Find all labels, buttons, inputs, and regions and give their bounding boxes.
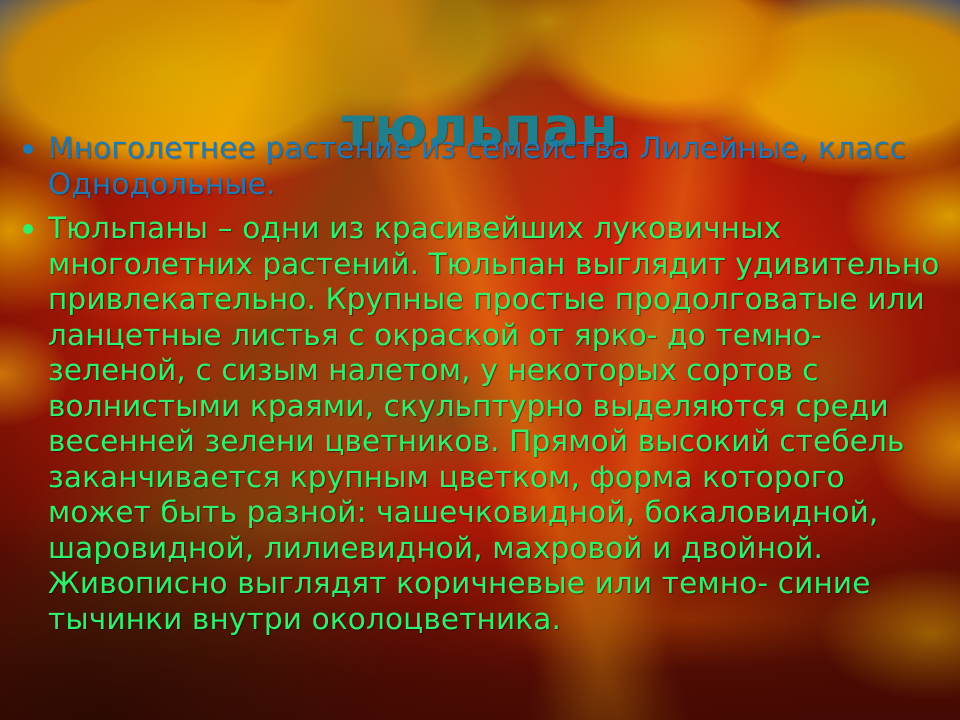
- presentation-slide: тюльпан Многолетнее растение из семейств…: [0, 0, 960, 720]
- bullet-text-1: Многолетнее растение из семейства Лилейн…: [48, 131, 906, 201]
- disc-bullet-icon: [23, 224, 33, 234]
- disc-bullet-icon: [23, 144, 33, 154]
- bullet-text-2: Тюльпаны – одни из красивейших луковичны…: [48, 211, 939, 636]
- slide-body-list: Многолетнее растение из семейства Лилейн…: [14, 131, 950, 637]
- bullet-item-1: Многолетнее растение из семейства Лилейн…: [14, 131, 950, 202]
- bullet-item-2: Тюльпаны – одни из красивейших луковичны…: [14, 211, 950, 637]
